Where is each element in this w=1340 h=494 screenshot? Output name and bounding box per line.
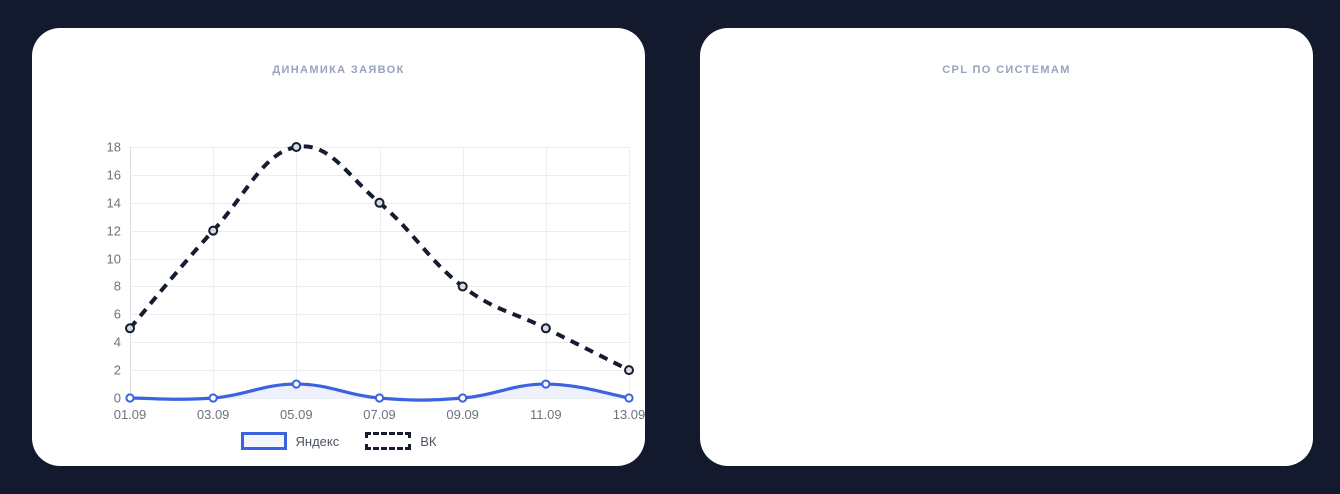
line-chart-legend: Яндекс ВК (32, 432, 645, 450)
data-point-marker[interactable] (126, 394, 133, 401)
x-tick-label: 07.09 (363, 407, 396, 422)
data-point-marker[interactable] (293, 380, 300, 387)
x-tick-label: 09.09 (446, 407, 479, 422)
data-point-marker[interactable] (625, 366, 633, 374)
card-dinamika-zayavok: ДИНАМИКА ЗАЯВОК 024681012141618 01.0903.… (32, 28, 645, 466)
legend-swatch-solid-icon (241, 432, 287, 450)
y-tick-label: 18 (107, 140, 121, 155)
data-point-marker[interactable] (459, 282, 467, 290)
y-tick-label: 16 (107, 167, 121, 182)
line-chart-plot-area: 024681012141618 01.0903.0905.0907.0909.0… (130, 147, 629, 398)
legend-item-vk[interactable]: ВК (365, 432, 436, 450)
x-tick-label: 11.09 (530, 407, 562, 422)
y-tick-label: 10 (107, 251, 121, 266)
x-tick-label: 05.09 (280, 407, 313, 422)
card-cpl-po-sistemam: CPL ПО СИСТЕМАМ ЯндексВКонтакте 02 0004 … (700, 28, 1313, 466)
line-chart-series (130, 147, 629, 398)
data-point-marker[interactable] (210, 394, 217, 401)
y-tick-label: 12 (107, 223, 121, 238)
gridline-vertical (629, 147, 630, 398)
y-tick-label: 6 (114, 307, 121, 322)
data-point-marker[interactable] (459, 394, 466, 401)
legend-label-vk: ВК (420, 434, 436, 449)
legend-label-yandex: Яндекс (296, 434, 340, 449)
chart-title-line: ДИНАМИКА ЗАЯВОК (32, 64, 645, 76)
data-point-marker[interactable] (126, 324, 134, 332)
data-point-marker[interactable] (209, 227, 217, 235)
x-tick-label: 03.09 (197, 407, 230, 422)
data-point-marker[interactable] (625, 394, 632, 401)
data-point-marker[interactable] (376, 394, 383, 401)
line-series-vk (130, 146, 629, 370)
data-point-marker[interactable] (542, 324, 550, 332)
data-point-marker[interactable] (542, 380, 549, 387)
y-tick-label: 0 (114, 391, 121, 406)
y-tick-label: 2 (114, 363, 121, 378)
x-tick-label: 01.09 (114, 407, 147, 422)
y-tick-label: 14 (107, 195, 121, 210)
data-point-marker[interactable] (292, 143, 300, 151)
y-tick-label: 8 (114, 279, 121, 294)
data-point-marker[interactable] (376, 199, 384, 207)
legend-swatch-dashed-icon (365, 432, 411, 450)
x-tick-label: 13.09 (613, 407, 645, 422)
dashboard: ДИНАМИКА ЗАЯВОК 024681012141618 01.0903.… (0, 0, 1340, 494)
y-tick-label: 4 (114, 335, 121, 350)
legend-item-yandex[interactable]: Яндекс (241, 432, 340, 450)
chart-title-bar: CPL ПО СИСТЕМАМ (700, 64, 1313, 76)
